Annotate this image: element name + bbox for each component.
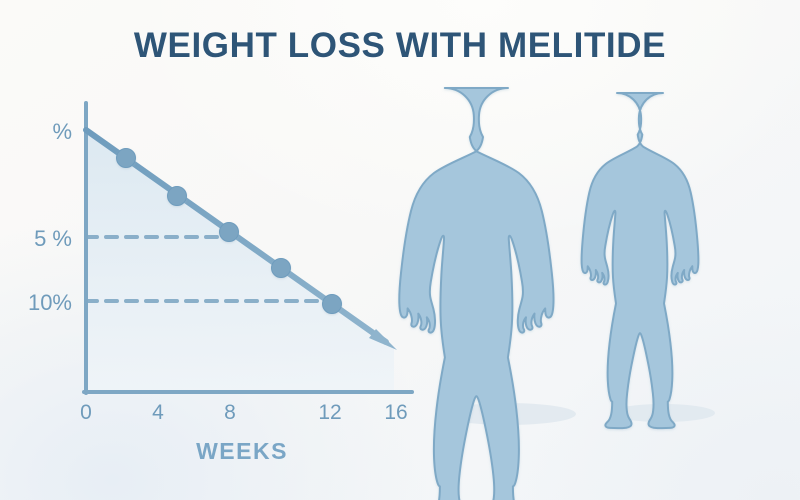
body-silhouettes bbox=[0, 0, 800, 500]
obese-body-silhouette bbox=[399, 88, 553, 500]
illustration-canvas: WEIGHT LOSS WITH MELITIDE bbox=[0, 0, 800, 500]
slim-body-silhouette bbox=[582, 93, 699, 428]
